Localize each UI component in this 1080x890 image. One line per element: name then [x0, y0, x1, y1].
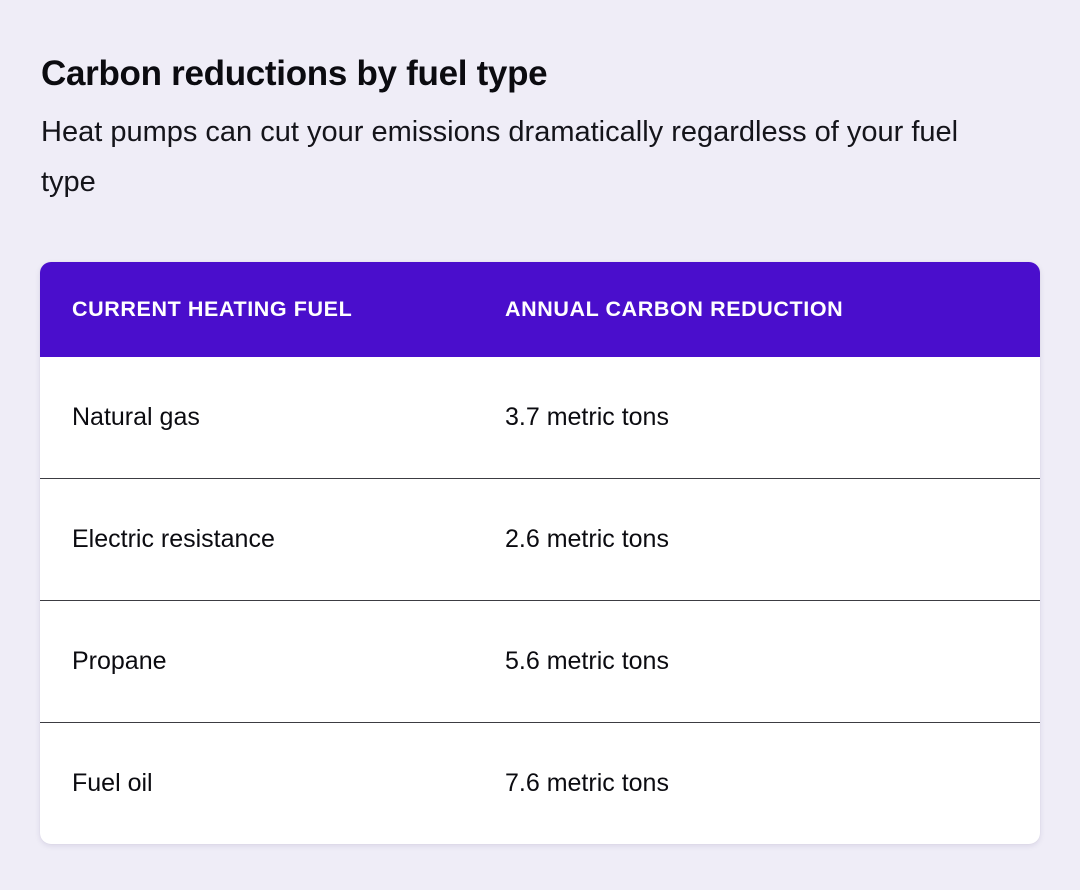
cell-fuel: Fuel oil	[40, 769, 505, 798]
cell-fuel: Natural gas	[40, 403, 505, 432]
cell-fuel: Propane	[40, 647, 505, 676]
table-body: Natural gas 3.7 metric tons Electric res…	[40, 357, 1040, 844]
page-title: Carbon reductions by fuel type	[41, 52, 1031, 96]
column-header-annual-carbon-reduction: ANNUAL CARBON REDUCTION	[505, 297, 1040, 322]
table-row: Propane 5.6 metric tons	[40, 600, 1040, 722]
cell-reduction: 2.6 metric tons	[505, 525, 1040, 554]
column-header-current-heating-fuel: CURRENT HEATING FUEL	[40, 297, 505, 322]
cell-reduction: 7.6 metric tons	[505, 769, 1040, 798]
cell-reduction: 3.7 metric tons	[505, 403, 1040, 432]
carbon-reduction-table-card: CURRENT HEATING FUEL ANNUAL CARBON REDUC…	[40, 262, 1040, 844]
heading-block: Carbon reductions by fuel type Heat pump…	[41, 52, 1031, 207]
table-header-row: CURRENT HEATING FUEL ANNUAL CARBON REDUC…	[40, 262, 1040, 357]
page-subtitle: Heat pumps can cut your emissions dramat…	[41, 96, 1016, 207]
table-row: Fuel oil 7.6 metric tons	[40, 722, 1040, 844]
cell-fuel: Electric resistance	[40, 525, 505, 554]
page-root: Carbon reductions by fuel type Heat pump…	[0, 0, 1080, 890]
table-row: Electric resistance 2.6 metric tons	[40, 478, 1040, 600]
table-row: Natural gas 3.7 metric tons	[40, 357, 1040, 478]
cell-reduction: 5.6 metric tons	[505, 647, 1040, 676]
